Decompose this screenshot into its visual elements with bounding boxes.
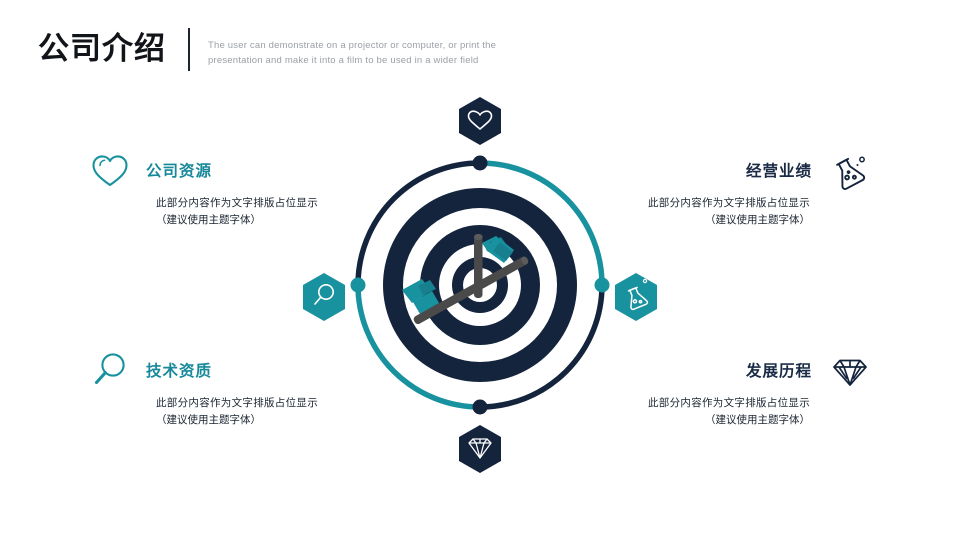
flask-icon [828, 148, 872, 192]
info-block-body-line1: 此部分内容作为文字排版占位显示 [156, 395, 388, 412]
hex-badge-bottom [459, 425, 501, 473]
info-block-body: 此部分内容作为文字排版占位显示 （建议使用主题字体） [572, 195, 872, 229]
info-block-body-line2: （建议使用主题字体） [572, 212, 810, 229]
orbit-dot-left [351, 278, 366, 293]
info-block-title: 发展历程 [746, 359, 812, 381]
hex-badge-top [459, 97, 501, 145]
info-block-title: 公司资源 [146, 159, 212, 181]
orbit-dot-top [473, 156, 488, 171]
info-block-header: 公司资源 [88, 148, 388, 192]
info-block-body-line1: 此部分内容作为文字排版占位显示 [156, 195, 388, 212]
heart-icon [88, 148, 132, 192]
magnifier-icon [88, 348, 132, 392]
info-block-business-performance[interactable]: 经营业绩 此部分内容作为文字排版占位显示 （建议使用主题字体） [572, 148, 872, 229]
slide-root: 公司介绍 The user can demonstrate on a proje… [0, 0, 960, 540]
info-block-title: 技术资质 [146, 359, 212, 381]
info-block-company-resources[interactable]: 公司资源 此部分内容作为文字排版占位显示 （建议使用主题字体） [88, 148, 388, 229]
page-subtitle: The user can demonstrate on a projector … [208, 28, 538, 68]
info-block-body-line1: 此部分内容作为文字排版占位显示 [572, 195, 810, 212]
info-block-header: 经营业绩 [572, 148, 872, 192]
info-block-body-line2: （建议使用主题字体） [572, 412, 810, 429]
info-block-title: 经营业绩 [746, 159, 812, 181]
orbit-dot-bottom [473, 400, 488, 415]
page-title: 公司介绍 [38, 28, 166, 70]
info-block-body-line2: （建议使用主题字体） [156, 412, 388, 429]
info-block-technical-qualification[interactable]: 技术资质 此部分内容作为文字排版占位显示 （建议使用主题字体） [88, 348, 388, 429]
info-block-development-history[interactable]: 发展历程 此部分内容作为文字排版占位显示 （建议使用主题字体） [572, 348, 872, 429]
hex-badge-right [615, 273, 657, 321]
diamond-icon [828, 348, 872, 392]
info-block-header: 发展历程 [572, 348, 872, 392]
info-block-body: 此部分内容作为文字排版占位显示 （建议使用主题字体） [88, 195, 388, 229]
info-block-body-line2: （建议使用主题字体） [156, 212, 388, 229]
info-block-body: 此部分内容作为文字排版占位显示 （建议使用主题字体） [88, 395, 388, 429]
title-divider [188, 28, 190, 71]
info-block-header: 技术资质 [88, 348, 388, 392]
hex-badge-left [303, 273, 345, 321]
orbit-dot-right [595, 278, 610, 293]
slide-header: 公司介绍 The user can demonstrate on a proje… [38, 28, 538, 71]
info-block-body: 此部分内容作为文字排版占位显示 （建议使用主题字体） [572, 395, 872, 429]
info-block-body-line1: 此部分内容作为文字排版占位显示 [572, 395, 810, 412]
